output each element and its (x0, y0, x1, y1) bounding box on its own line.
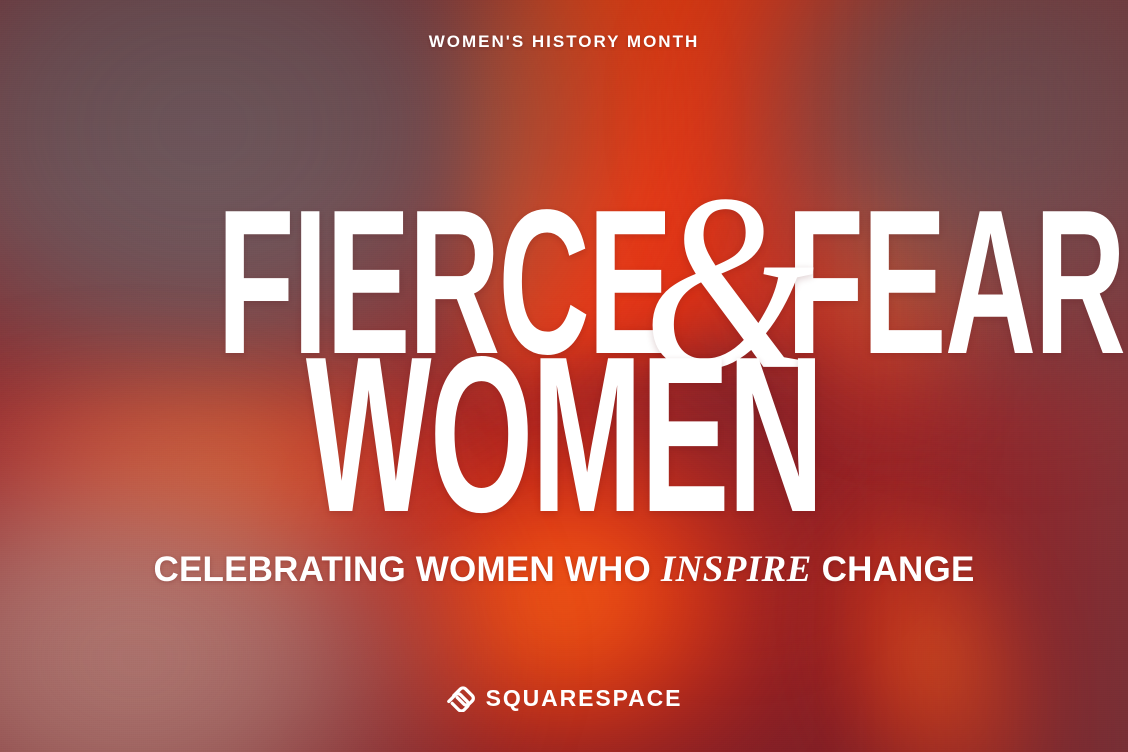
promo-graphic: WOMEN'S HISTORY MONTH FIERCE&FEARLESS WO… (0, 0, 1128, 752)
headline-line-1: FIERCE&FEARLESS (217, 158, 911, 316)
headline-line-2: WOMEN (226, 338, 903, 510)
squarespace-logo-mark (446, 685, 475, 712)
content-layer: WOMEN'S HISTORY MONTH FIERCE&FEARLESS WO… (0, 0, 1128, 752)
subtitle-segment-after: CHANGE (812, 550, 975, 589)
eyebrow-text: WOMEN'S HISTORY MONTH (0, 33, 1128, 50)
squarespace-wordmark: SQUARESPACE (486, 687, 683, 710)
headline: FIERCE&FEARLESS WOMEN (0, 158, 1128, 510)
subtitle-segment-before: CELEBRATING WOMEN WHO (154, 550, 661, 589)
subtitle-emphasis-inspire: INSPIRE (661, 549, 812, 590)
brand-lockup: SQUARESPACE (0, 685, 1128, 712)
subtitle: CELEBRATING WOMEN WHO INSPIRE CHANGE (0, 551, 1128, 588)
